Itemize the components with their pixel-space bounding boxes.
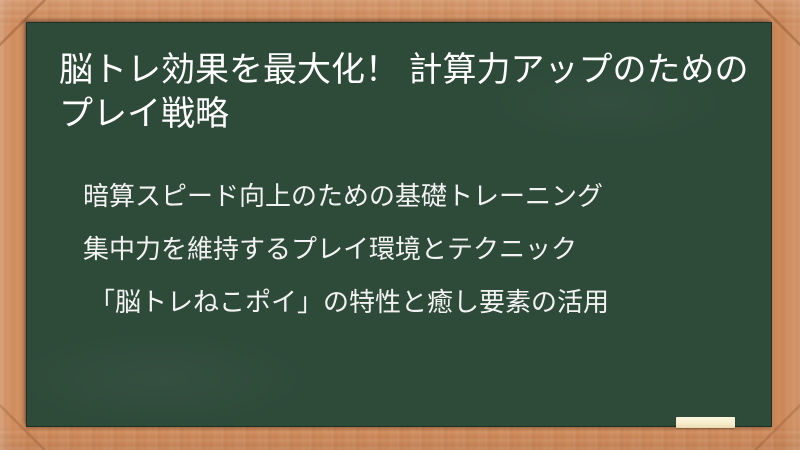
- chalk-stick-icon: [676, 417, 735, 428]
- chalkboard-surface: 脳トレ効果を最大化！ 計算力アップのためのプレイ戦略 暗算スピード向上のための基…: [26, 22, 772, 427]
- list-item: 暗算スピード向上のための基礎トレーニング: [59, 170, 759, 223]
- slide-bullet-list: 暗算スピード向上のための基礎トレーニング 集中力を維持するプレイ環境とテクニック…: [59, 170, 759, 329]
- wood-grain-bottom-rail: [0, 426, 800, 450]
- list-item: 集中力を維持するプレイ環境とテクニック: [59, 223, 759, 276]
- list-item: 「脳トレねこポイ」の特性と癒し要素の活用: [59, 276, 759, 329]
- slide-title: 脳トレ効果を最大化！ 計算力アップのためのプレイ戦略: [59, 48, 749, 136]
- chalkboard-slide: 脳トレ効果を最大化！ 計算力アップのためのプレイ戦略 暗算スピード向上のための基…: [0, 0, 800, 450]
